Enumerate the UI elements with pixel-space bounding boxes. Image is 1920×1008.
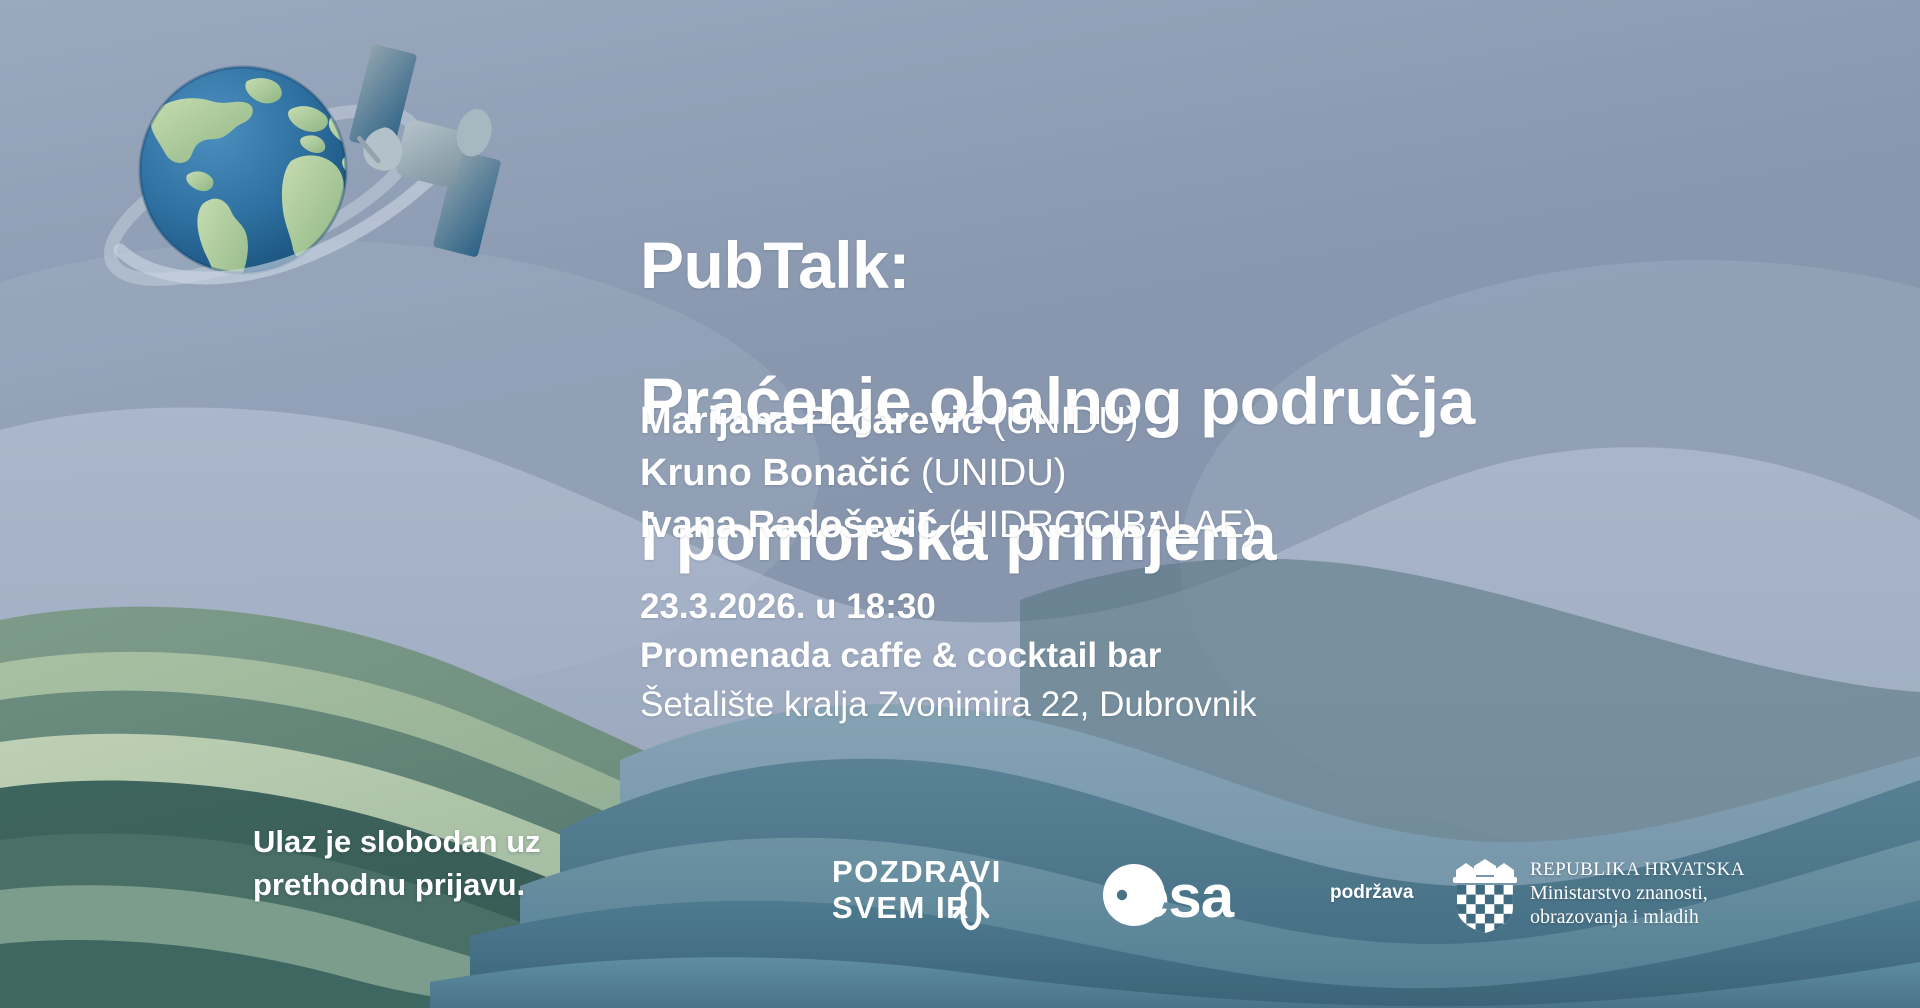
event-details: 23.3.2026. u 18:30 Promenada caffe & coc… bbox=[640, 582, 1740, 729]
list-item: Kruno Bonačić (UNIDU) bbox=[640, 447, 1740, 499]
pozdravi-wordmark-line2: SVEM IR bbox=[832, 890, 970, 925]
speaker-name: Marijana Pećarević bbox=[640, 400, 982, 442]
event-address: Šetalište kralja Zvonimira 22, Dubrovnik bbox=[640, 680, 1740, 729]
speaker-affiliation: (HIDROCIBALAE) bbox=[948, 504, 1256, 546]
speaker-name: Kruno Bonačić bbox=[640, 452, 910, 494]
title-line-1: PubTalk: bbox=[640, 232, 1790, 300]
speaker-affiliation: (UNIDU) bbox=[993, 400, 1139, 442]
ministry-line-3: obrazovanja i mladih bbox=[1530, 905, 1730, 929]
event-poster: PubTalk: Praćenje obalnog područja i pom… bbox=[0, 0, 1920, 1008]
ministry-logo: REPUBLIKA HRVATSKA Ministarstvo znanosti… bbox=[1450, 848, 1710, 940]
free-entry-note: Ulaz je slobodan uz prethodnu prijavu. bbox=[253, 820, 613, 906]
speaker-affiliation: (UNIDU) bbox=[921, 452, 1067, 494]
event-venue: Promenada caffe & cocktail bar bbox=[640, 631, 1740, 680]
esa-logo: esa bbox=[1100, 856, 1285, 934]
ministry-line-1: REPUBLIKA HRVATSKA bbox=[1530, 858, 1730, 881]
pozdravi-svemir-logo: POZDRAVI SVEM IR bbox=[830, 850, 1045, 940]
event-datetime: 23.3.2026. u 18:30 bbox=[640, 582, 1740, 631]
logo-strip: POZDRAVI SVEM IR esa bbox=[800, 840, 1640, 950]
speaker-name: Ivana Radošević bbox=[640, 504, 938, 546]
list-item: Ivana Radošević (HIDROCIBALAE) bbox=[640, 499, 1740, 551]
ministry-line-2: Ministarstvo znanosti, bbox=[1530, 881, 1730, 905]
croatian-coat-of-arms-icon bbox=[1450, 854, 1520, 934]
globe-satellite-illustration bbox=[95, 25, 595, 355]
ministry-text: REPUBLIKA HRVATSKA Ministarstvo znanosti… bbox=[1530, 858, 1730, 929]
esa-wordmark: esa bbox=[1136, 863, 1235, 930]
list-item: Marijana Pećarević (UNIDU) bbox=[640, 395, 1740, 447]
support-label: podržava bbox=[1330, 882, 1413, 904]
speaker-list: Marijana Pećarević (UNIDU) Kruno Bonačić… bbox=[640, 395, 1740, 551]
